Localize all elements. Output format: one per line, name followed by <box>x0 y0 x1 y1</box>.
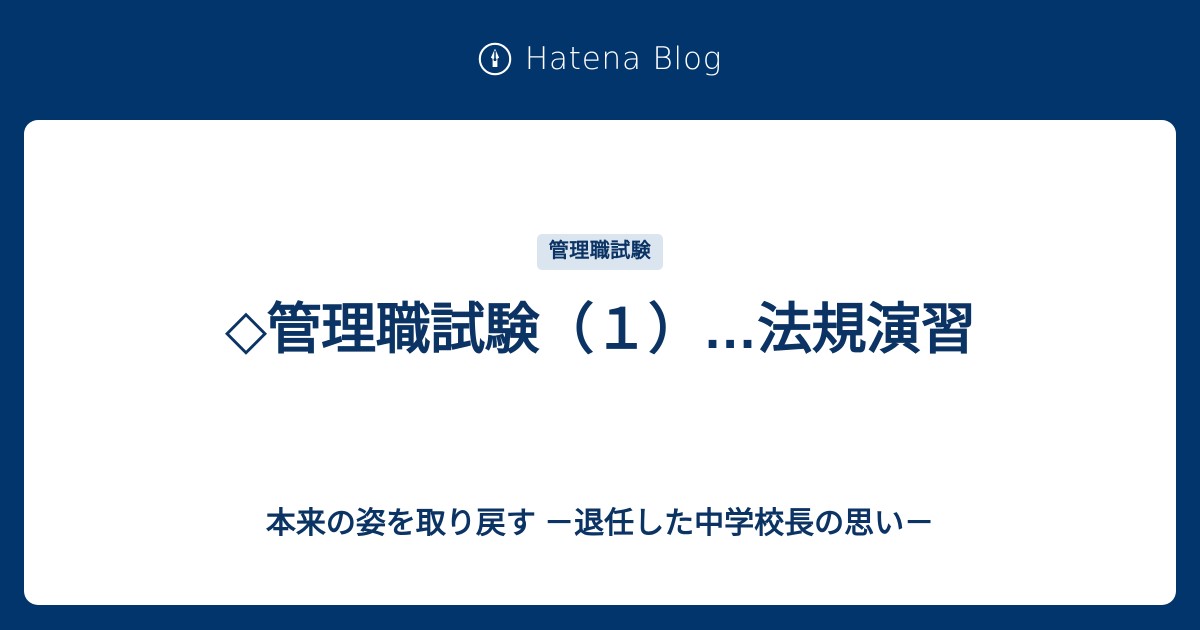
card-upper-block: 管理職試験 ◇管理職試験（１）…法規演習 <box>24 120 1176 506</box>
content-card: 管理職試験 ◇管理職試験（１）…法規演習 本来の姿を取り戻す －退任した中学校長… <box>24 120 1176 605</box>
brand-header: Hatena Blog <box>0 0 1200 120</box>
entry-title: ◇管理職試験（１）…法規演習 <box>225 297 975 362</box>
brand-lockup[interactable]: Hatena Blog <box>478 42 722 76</box>
ogp-card-root: Hatena Blog 管理職試験 ◇管理職試験（１）…法規演習 本来の姿を取り… <box>0 0 1200 630</box>
brand-name: Hatena Blog <box>525 44 722 75</box>
pen-nib-circle-icon <box>478 42 512 76</box>
category-badge[interactable]: 管理職試験 <box>537 234 664 270</box>
blog-title: 本来の姿を取り戻す －退任した中学校長の思い－ <box>266 506 934 605</box>
